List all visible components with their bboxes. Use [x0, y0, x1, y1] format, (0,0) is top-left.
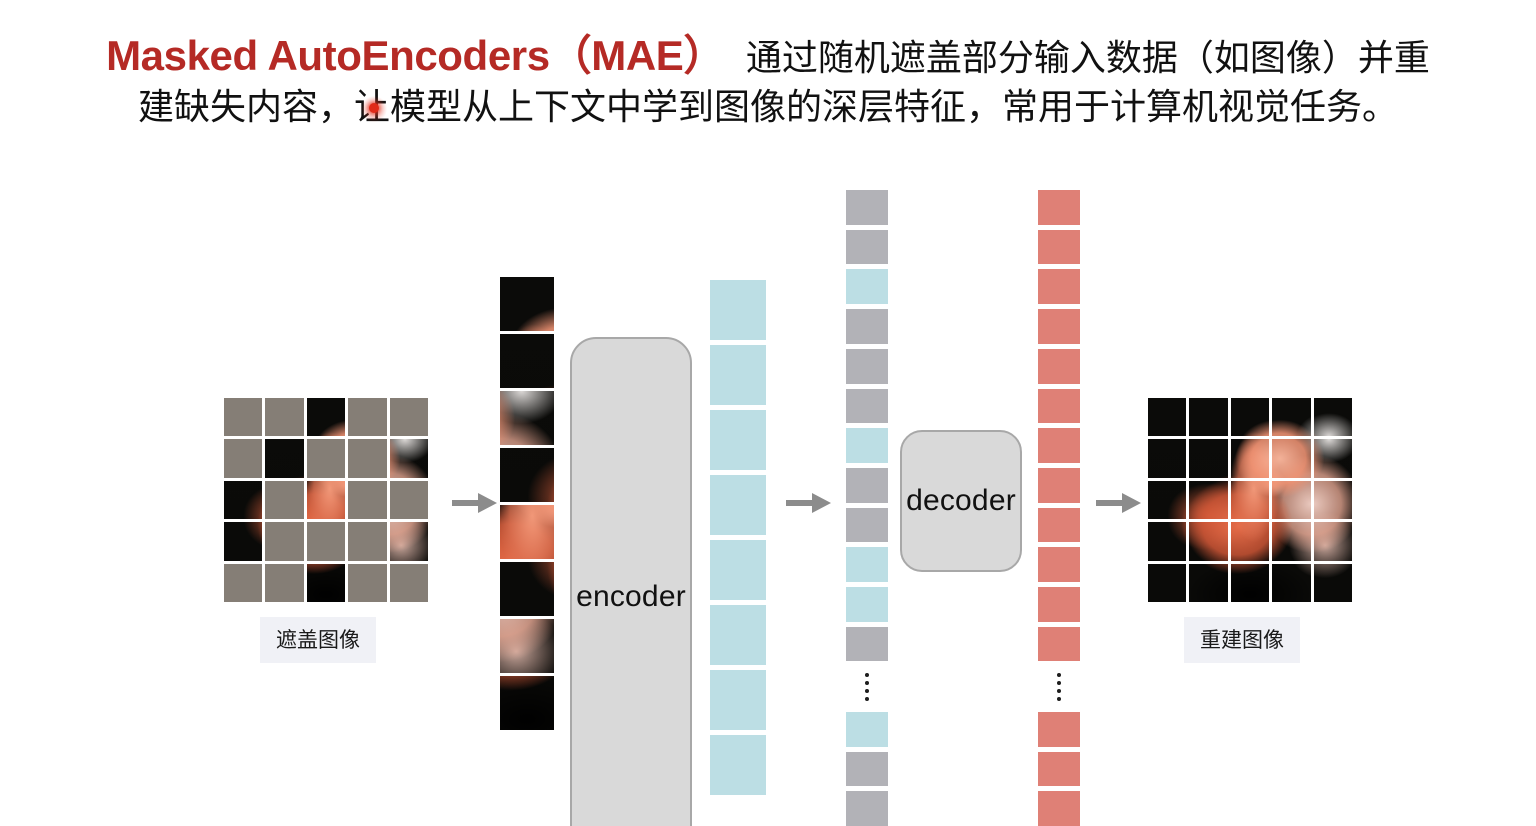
image-patch-content — [1272, 481, 1310, 519]
reconstructed-image-grid — [1148, 398, 1352, 602]
visible-patch — [1189, 522, 1227, 560]
image-patch-content — [500, 391, 554, 445]
image-patch-content — [1272, 439, 1310, 477]
visible-patch — [1148, 564, 1186, 602]
cyan-token — [710, 670, 766, 730]
image-patch-content — [1148, 564, 1186, 602]
salmon-token — [1038, 547, 1080, 582]
masked-patch — [348, 481, 386, 519]
image-patch-content — [1148, 439, 1186, 477]
gray-token — [846, 349, 888, 384]
image-patch-content — [307, 564, 345, 602]
heading-line-2: 建缺失内容，让模型从上下文中学到图像的深层特征，常用于计算机视觉任务。 — [14, 83, 1522, 131]
visible-patch-token — [500, 676, 554, 730]
gray-token — [846, 230, 888, 265]
cyan-token — [846, 587, 888, 622]
salmon-token — [1038, 349, 1080, 384]
image-patch-content — [265, 439, 303, 477]
sequence-ellipsis — [846, 666, 888, 706]
visible-patch — [1148, 439, 1186, 477]
visible-patch — [1148, 522, 1186, 560]
masked-patch — [265, 564, 303, 602]
salmon-token — [1038, 508, 1080, 543]
image-patch-content — [1314, 439, 1352, 477]
image-patch-content — [1189, 522, 1227, 560]
heading-line-1: Masked AutoEncoders（MAE） 通过随机遮盖部分输入数据（如图… — [14, 28, 1522, 83]
image-patch-content — [1231, 522, 1269, 560]
cyan-token — [710, 540, 766, 600]
visible-patch — [1231, 564, 1269, 602]
visible-patch-token — [500, 505, 554, 559]
image-patch-content — [390, 522, 428, 560]
gray-token — [846, 190, 888, 225]
gray-token — [846, 752, 888, 787]
gray-token — [846, 389, 888, 424]
cyan-token — [710, 735, 766, 795]
masked-patch — [307, 522, 345, 560]
arrow-latents-to-decoder-input — [786, 490, 832, 516]
ellipsis-dot — [865, 673, 869, 677]
masked-image-caption: 遮盖图像 — [260, 617, 376, 663]
visible-patch — [1231, 522, 1269, 560]
visible-patch — [1272, 522, 1310, 560]
image-patch-content — [1189, 481, 1227, 519]
cyan-token — [846, 269, 888, 304]
cyan-token — [846, 428, 888, 463]
image-patch-content — [500, 676, 554, 730]
cyan-token — [710, 475, 766, 535]
cyan-token — [846, 547, 888, 582]
arrow-decoder-output-to-reconstruction — [1096, 490, 1142, 516]
image-patch-content — [500, 562, 554, 616]
visible-patch — [224, 522, 262, 560]
image-patch-content — [1231, 398, 1269, 436]
image-patch-content — [307, 481, 345, 519]
visible-patch — [1231, 481, 1269, 519]
gray-token — [846, 508, 888, 543]
ellipsis-dot — [1057, 697, 1061, 701]
heading-body-line-1: 通过随机遮盖部分输入数据（如图像）并重 — [746, 37, 1430, 78]
masked-patch — [265, 481, 303, 519]
image-patch-content — [1148, 481, 1186, 519]
salmon-token — [1038, 428, 1080, 463]
visible-patch — [265, 439, 303, 477]
image-patch-content — [1189, 564, 1227, 602]
visible-patch-token — [500, 334, 554, 388]
ellipsis-dot — [865, 689, 869, 693]
visible-patch — [1272, 481, 1310, 519]
salmon-token — [1038, 791, 1080, 826]
cyan-token — [710, 605, 766, 665]
encoder-output-latents — [710, 280, 766, 805]
gray-token — [846, 627, 888, 662]
visible-patch — [1189, 564, 1227, 602]
image-patch-content — [1314, 398, 1352, 436]
cyan-token — [710, 280, 766, 340]
mae-architecture-diagram: 遮盖图像 encoder decoder — [0, 170, 1536, 826]
image-patch-content — [500, 448, 554, 502]
decoder-output-sequence — [1038, 190, 1080, 826]
visible-patch — [1314, 481, 1352, 519]
cyan-token — [710, 410, 766, 470]
visible-patch — [307, 398, 345, 436]
visible-patch — [1189, 481, 1227, 519]
slide-canvas: Masked AutoEncoders（MAE） 通过随机遮盖部分输入数据（如图… — [0, 0, 1536, 826]
image-patch-content — [307, 398, 345, 436]
visible-patch-token — [500, 277, 554, 331]
cyan-token — [846, 712, 888, 747]
visible-patch — [307, 481, 345, 519]
visible-patch-token — [500, 562, 554, 616]
masked-patch — [348, 439, 386, 477]
visible-patch — [1231, 398, 1269, 436]
heading-title: Masked AutoEncoders（MAE） — [106, 32, 725, 79]
visible-patch-sequence — [500, 277, 554, 730]
image-patch-content — [1148, 398, 1186, 436]
gray-token — [846, 309, 888, 344]
visible-patch — [1314, 439, 1352, 477]
visible-patch — [1314, 398, 1352, 436]
gray-token — [846, 791, 888, 826]
image-patch-content — [500, 619, 554, 673]
heading-body-line-2: 建缺失内容，让模型从上下文中学到图像的深层特征，常用于计算机视觉任务。 — [138, 86, 1398, 127]
salmon-token — [1038, 712, 1080, 747]
arrow-masked-to-patches — [452, 490, 498, 516]
image-patch-content — [1272, 522, 1310, 560]
masked-patch — [348, 398, 386, 436]
masked-patch — [390, 398, 428, 436]
masked-image-block: 遮盖图像 — [224, 398, 428, 602]
visible-patch-token — [500, 448, 554, 502]
masked-patch — [265, 398, 303, 436]
visible-patch — [1189, 439, 1227, 477]
image-patch-content — [500, 277, 554, 331]
masked-patch — [265, 522, 303, 560]
ellipsis-dot — [865, 681, 869, 685]
visible-patch — [1272, 398, 1310, 436]
image-patch-content — [1231, 481, 1269, 519]
salmon-token — [1038, 468, 1080, 503]
visible-patch — [307, 564, 345, 602]
masked-patch — [224, 564, 262, 602]
reconstructed-image-caption: 重建图像 — [1184, 617, 1300, 663]
visible-patch — [1189, 398, 1227, 436]
decoder-module: decoder — [900, 430, 1022, 572]
image-patch-content — [1189, 398, 1227, 436]
image-patch-content — [390, 439, 428, 477]
visible-patch — [224, 481, 262, 519]
image-patch-content — [1272, 564, 1310, 602]
masked-image-grid — [224, 398, 428, 602]
masked-patch — [307, 439, 345, 477]
visible-patch — [1148, 481, 1186, 519]
cyan-token — [710, 345, 766, 405]
ellipsis-dot — [1057, 689, 1061, 693]
ellipsis-dot — [1057, 681, 1061, 685]
visible-patch — [1314, 522, 1352, 560]
masked-patch — [348, 564, 386, 602]
image-patch-content — [1148, 522, 1186, 560]
image-patch-content — [224, 522, 262, 560]
image-patch-content — [1314, 522, 1352, 560]
salmon-token — [1038, 627, 1080, 662]
salmon-token — [1038, 389, 1080, 424]
ellipsis-dot — [1057, 673, 1061, 677]
image-patch-content — [1231, 564, 1269, 602]
masked-patch — [390, 564, 428, 602]
image-patch-content — [1314, 564, 1352, 602]
ellipsis-dot — [865, 697, 869, 701]
visible-patch — [390, 522, 428, 560]
visible-patch-token — [500, 391, 554, 445]
visible-patch-token — [500, 619, 554, 673]
salmon-token — [1038, 269, 1080, 304]
sequence-ellipsis — [1038, 666, 1080, 706]
visible-patch — [1314, 564, 1352, 602]
salmon-token — [1038, 309, 1080, 344]
salmon-token — [1038, 190, 1080, 225]
gray-token — [846, 468, 888, 503]
salmon-token — [1038, 230, 1080, 265]
image-patch-content — [224, 481, 262, 519]
image-patch-content — [500, 334, 554, 388]
image-patch-content — [1272, 398, 1310, 436]
salmon-token — [1038, 752, 1080, 787]
visible-patch — [390, 439, 428, 477]
salmon-token — [1038, 587, 1080, 622]
decoder-input-sequence — [846, 190, 888, 826]
encoder-label: encoder — [576, 580, 686, 614]
visible-patch — [1148, 398, 1186, 436]
slide-heading: Masked AutoEncoders（MAE） 通过随机遮盖部分输入数据（如图… — [0, 28, 1536, 131]
image-patch-content — [500, 505, 554, 559]
masked-patch — [224, 398, 262, 436]
visible-patch — [1231, 439, 1269, 477]
image-patch-content — [1314, 481, 1352, 519]
image-patch-content — [1231, 439, 1269, 477]
masked-patch — [348, 522, 386, 560]
visible-patch — [1272, 564, 1310, 602]
masked-patch — [390, 481, 428, 519]
image-patch-content — [1189, 439, 1227, 477]
decoder-label: decoder — [906, 484, 1016, 518]
masked-patch — [224, 439, 262, 477]
visible-patch — [1272, 439, 1310, 477]
reconstructed-image-block: 重建图像 — [1148, 398, 1352, 602]
encoder-module: encoder — [570, 337, 692, 826]
